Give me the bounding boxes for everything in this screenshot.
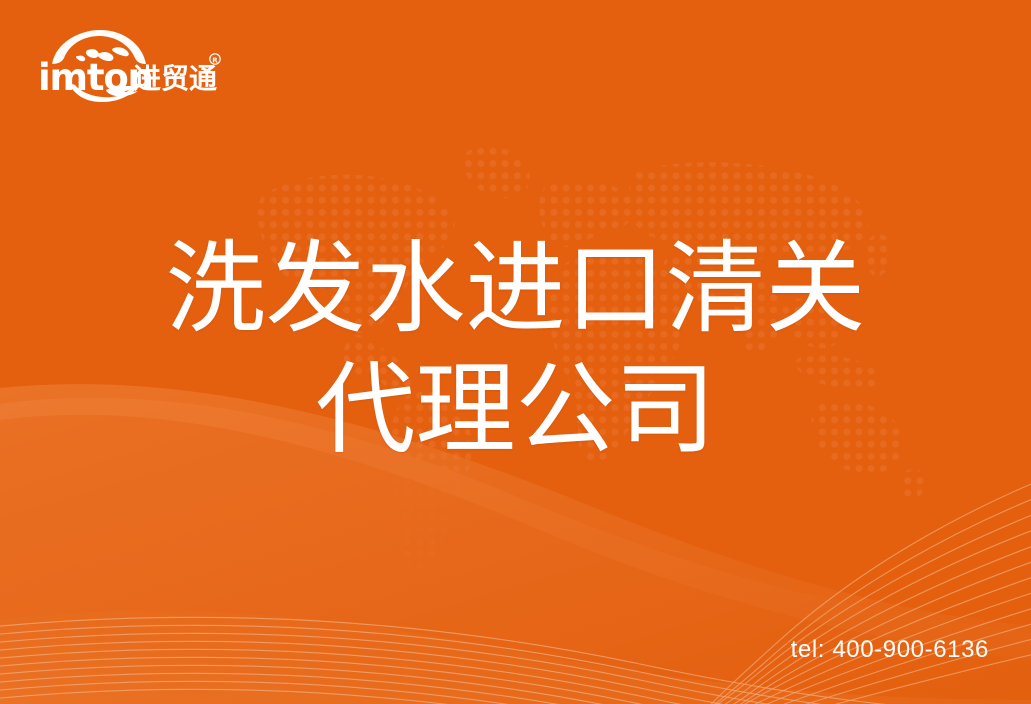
telephone-text: tel: 400-900-6136 (791, 636, 989, 664)
svg-text:进贸通: 进贸通 (133, 62, 217, 95)
svg-text:R: R (212, 56, 218, 64)
brand-logo[interactable]: imton 进贸通 R (36, 28, 221, 104)
headline-line-2: 代理公司 (0, 349, 1031, 470)
headline-line-1: 洗发水进口清关 (0, 228, 1031, 349)
logo-chinese-name: 进贸通 (133, 62, 217, 95)
registered-trademark-icon: R (210, 54, 220, 65)
promo-banner: imton 进贸通 R 洗发水进口清关 代理公司 tel: 400-900-61… (0, 0, 1031, 704)
page-title: 洗发水进口清关 代理公司 (0, 228, 1031, 470)
